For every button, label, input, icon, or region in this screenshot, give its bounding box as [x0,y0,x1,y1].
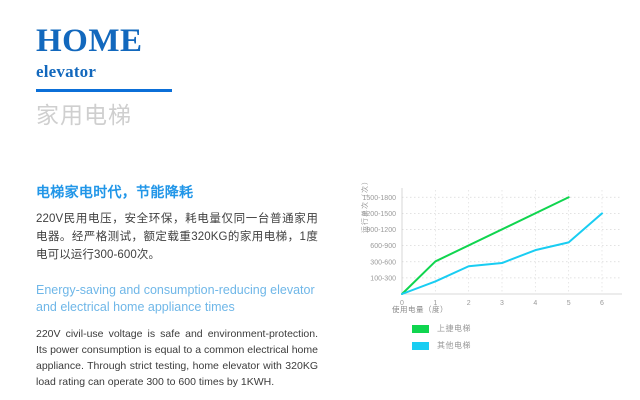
energy-consumption-chart: 运行单次（次） 100-300300-600600-900900-1200120… [356,182,624,364]
chart-x-tick-label: 5 [567,300,571,307]
heading-en: Energy-saving and consumption-reducing e… [36,282,318,316]
chart-y-tick-label: 100-300 [370,275,396,282]
paragraph-en: 220V civil-use voltage is safe and envir… [36,326,318,390]
chart-series-line-1 [402,213,602,294]
brand-title-home: HOME [36,24,336,58]
chart-x-tick-label: 6 [600,300,604,307]
legend-item[interactable]: 其他电梯 [412,340,471,351]
page-header: HOME elevator 家用电梯 [36,24,336,128]
chart-y-tick-label: 900-1200 [366,227,396,234]
legend-swatch-series-1 [412,342,429,350]
chart-legend: 上捷电梯 其他电梯 [412,323,471,357]
chart-y-tick-label: 1200-1500 [363,211,397,218]
chart-y-tick-label: 600-900 [370,243,396,250]
legend-item[interactable]: 上捷电梯 [412,323,471,334]
heading-cn: 电梯家电时代，节能降耗 [36,183,318,201]
copy-column: 电梯家电时代，节能降耗 220V民用电压，安全环保，耗电量仅同一台普通家用电器。… [36,183,318,390]
chart-x-tick-label: 4 [533,300,537,307]
chart-plot-area: 100-300300-600600-900900-12001200-150015… [356,182,624,312]
brand-subtitle-cn: 家用电梯 [36,102,336,128]
paragraph-cn: 220V民用电压，安全环保，耗电量仅同一台普通家用电器。经严格测试，额定载重32… [36,210,318,264]
legend-label-series-0: 上捷电梯 [437,323,471,334]
chart-y-tick-label: 300-600 [370,259,396,266]
brand-divider [36,89,172,92]
chart-x-axis-title: 使用电量（度） [392,304,448,315]
brand-title-elevator: elevator [36,62,336,82]
chart-x-tick-label: 3 [500,300,504,307]
chart-x-tick-label: 2 [467,300,471,307]
chart-y-tick-label: 1500-1800 [363,195,397,202]
chart-svg: 100-300300-600600-900900-12001200-150015… [356,182,624,307]
legend-swatch-series-0 [412,325,429,333]
legend-label-series-1: 其他电梯 [437,340,471,351]
